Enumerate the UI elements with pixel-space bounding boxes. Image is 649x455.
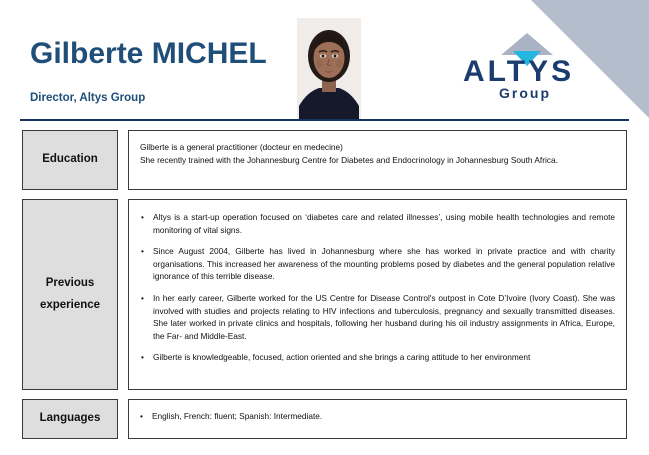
person-role: Director, Altys Group [30,92,145,104]
list-item: •Altys is a start-up operation focused o… [139,211,615,236]
experience-bullet-list: •Altys is a start-up operation focused o… [139,211,615,364]
logo-wordmark: ALTYS [463,57,587,87]
education-line-2: She recently trained with the Johannesbu… [140,154,617,167]
section-label-languages-text: Languages [40,408,101,429]
list-item: •In her early career, Gilberte worked fo… [139,292,615,342]
portrait-photo-image [297,18,361,121]
list-item-text: English, French: fluent; Spanish: Interm… [152,411,322,421]
section-content-previous-experience: •Altys is a start-up operation focused o… [128,199,627,390]
list-item-text: In her early career, Gilberte worked for… [153,293,615,341]
page-title: Gilberte MICHEL [30,37,267,71]
section-content-education: Gilberte is a general practitioner (doct… [128,130,627,190]
list-item: •English, French: fluent; Spanish: Inter… [138,410,617,423]
section-content-languages: •English, French: fluent; Spanish: Inter… [128,399,627,439]
list-item-text: Gilberte is knowledgeable, focused, acti… [153,352,530,362]
section-label-education: Education [22,130,118,190]
bullet-icon: • [141,351,144,364]
section-label-previous-experience: Previous experience [22,199,118,390]
section-label-languages: Languages [22,399,118,439]
section-label-previous-experience-text: Previous experience [40,273,100,316]
section-label-line-1: Previous [46,277,95,289]
portrait-photo [297,18,361,121]
list-item: •Since August 2004, Gilberte has lived i… [139,245,615,283]
altys-logo: ALTYS Group [463,33,587,105]
education-line-1: Gilberte is a general practitioner (doct… [140,141,617,154]
header-divider [20,119,629,121]
section-label-education-text: Education [42,149,98,170]
list-item-text: Since August 2004, Gilberte has lived in… [153,246,615,281]
logo-subtitle: Group [463,85,587,101]
list-item-text: Altys is a start-up operation focused on… [153,212,615,235]
list-item: •Gilberte is knowledgeable, focused, act… [139,351,615,364]
bullet-icon: • [141,211,144,224]
languages-bullet-list: •English, French: fluent; Spanish: Inter… [138,410,617,423]
bullet-icon: • [140,410,143,423]
cv-slide: Gilberte MICHEL Director, Altys Group [0,0,649,455]
bullet-icon: • [141,292,144,305]
section-label-line-2: experience [40,299,100,311]
bullet-icon: • [141,245,144,258]
